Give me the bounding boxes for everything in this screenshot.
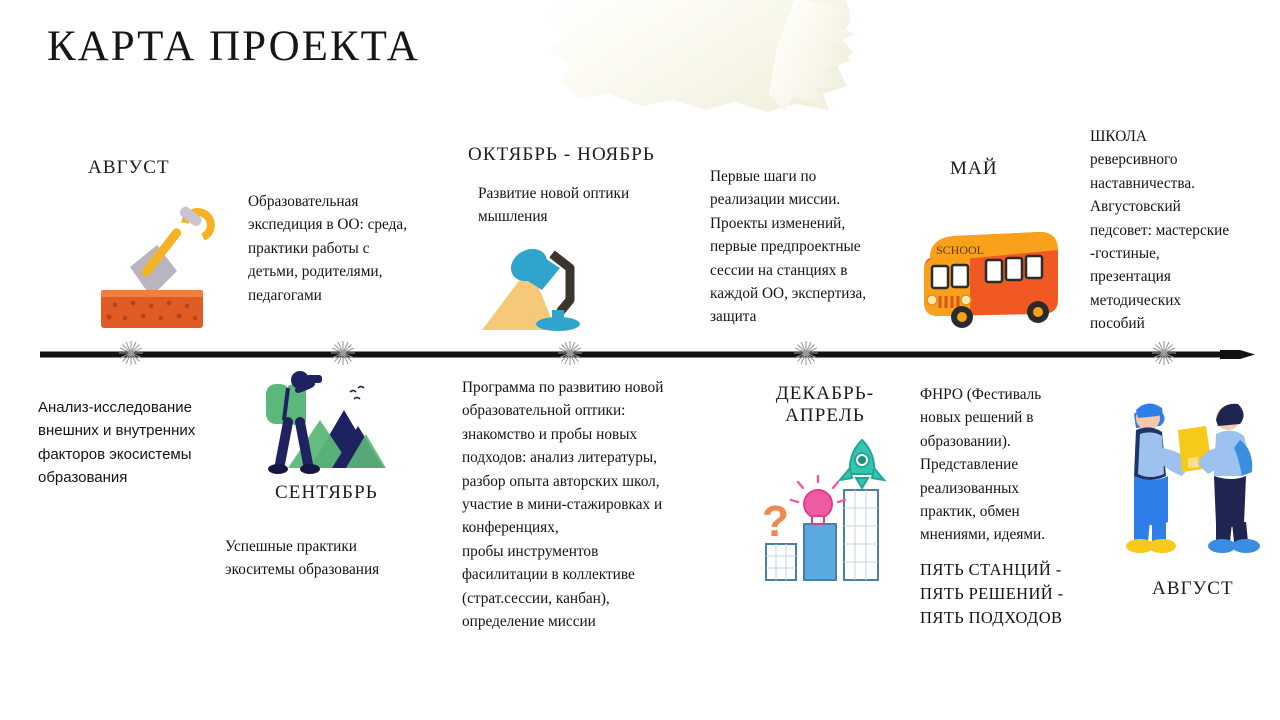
shovel-in-soil-icon — [85, 205, 215, 330]
month-label-september: СЕНТЯБРЬ — [275, 482, 378, 504]
star-marker — [118, 340, 144, 366]
text-september-practices: Успешные практики экоситемы образования — [225, 535, 445, 582]
month-label-december-april: ДЕКАБРЬ- АПРЕЛЬ — [760, 383, 890, 428]
growth-chart-rocket-icon: ? — [756, 432, 891, 587]
text-five-stations: ПЯТЬ СТАНЦИЙ - ПЯТЬ РЕШЕНИЙ - ПЯТЬ ПОДХО… — [920, 558, 1120, 630]
month-label-october-november: ОКТЯБРЬ - НОЯБРЬ — [468, 144, 655, 166]
text-fnro-festival: ФНРО (Фестиваль новых решений в образова… — [920, 383, 1110, 547]
star-marker — [557, 340, 583, 366]
text-analysis-research: Анализ-исследование внешних и внутренних… — [38, 396, 253, 490]
bus-label: SCHOOL — [936, 243, 984, 257]
month-label-august-end: АВГУСТ — [1152, 578, 1234, 600]
text-new-optics: Развитие новой оптики мышления — [478, 182, 693, 229]
star-marker — [793, 340, 819, 366]
month-label-august: АВГУСТ — [88, 157, 170, 179]
school-bus-icon: SCHOOL — [912, 218, 1067, 343]
text-reverse-mentoring-school: ШКОЛА реверсивного наставничества. Авгус… — [1090, 125, 1270, 336]
page-title: КАРТА ПРОЕКТА — [47, 22, 420, 71]
timeline-arrow — [40, 350, 1255, 359]
desk-lamp-icon — [472, 238, 597, 338]
slide-root: КАРТА ПРОЕКТА — [0, 0, 1280, 720]
starburst-ribbon — [545, 0, 855, 114]
star-marker — [330, 340, 356, 366]
text-august-expedition: Образовательная экспедиция в ОО: среда, … — [248, 190, 458, 307]
text-program-development: Программа по развитию новой образователь… — [462, 376, 712, 633]
hiker-with-binoculars-icon — [258, 368, 398, 483]
two-people-exchange-box-icon — [1112, 396, 1267, 561]
text-first-steps: Первые шаги по реализации миссии. Проект… — [710, 165, 928, 329]
month-label-may: МАЙ — [950, 158, 998, 180]
svg-text:?: ? — [762, 497, 789, 546]
star-marker — [1151, 340, 1177, 366]
